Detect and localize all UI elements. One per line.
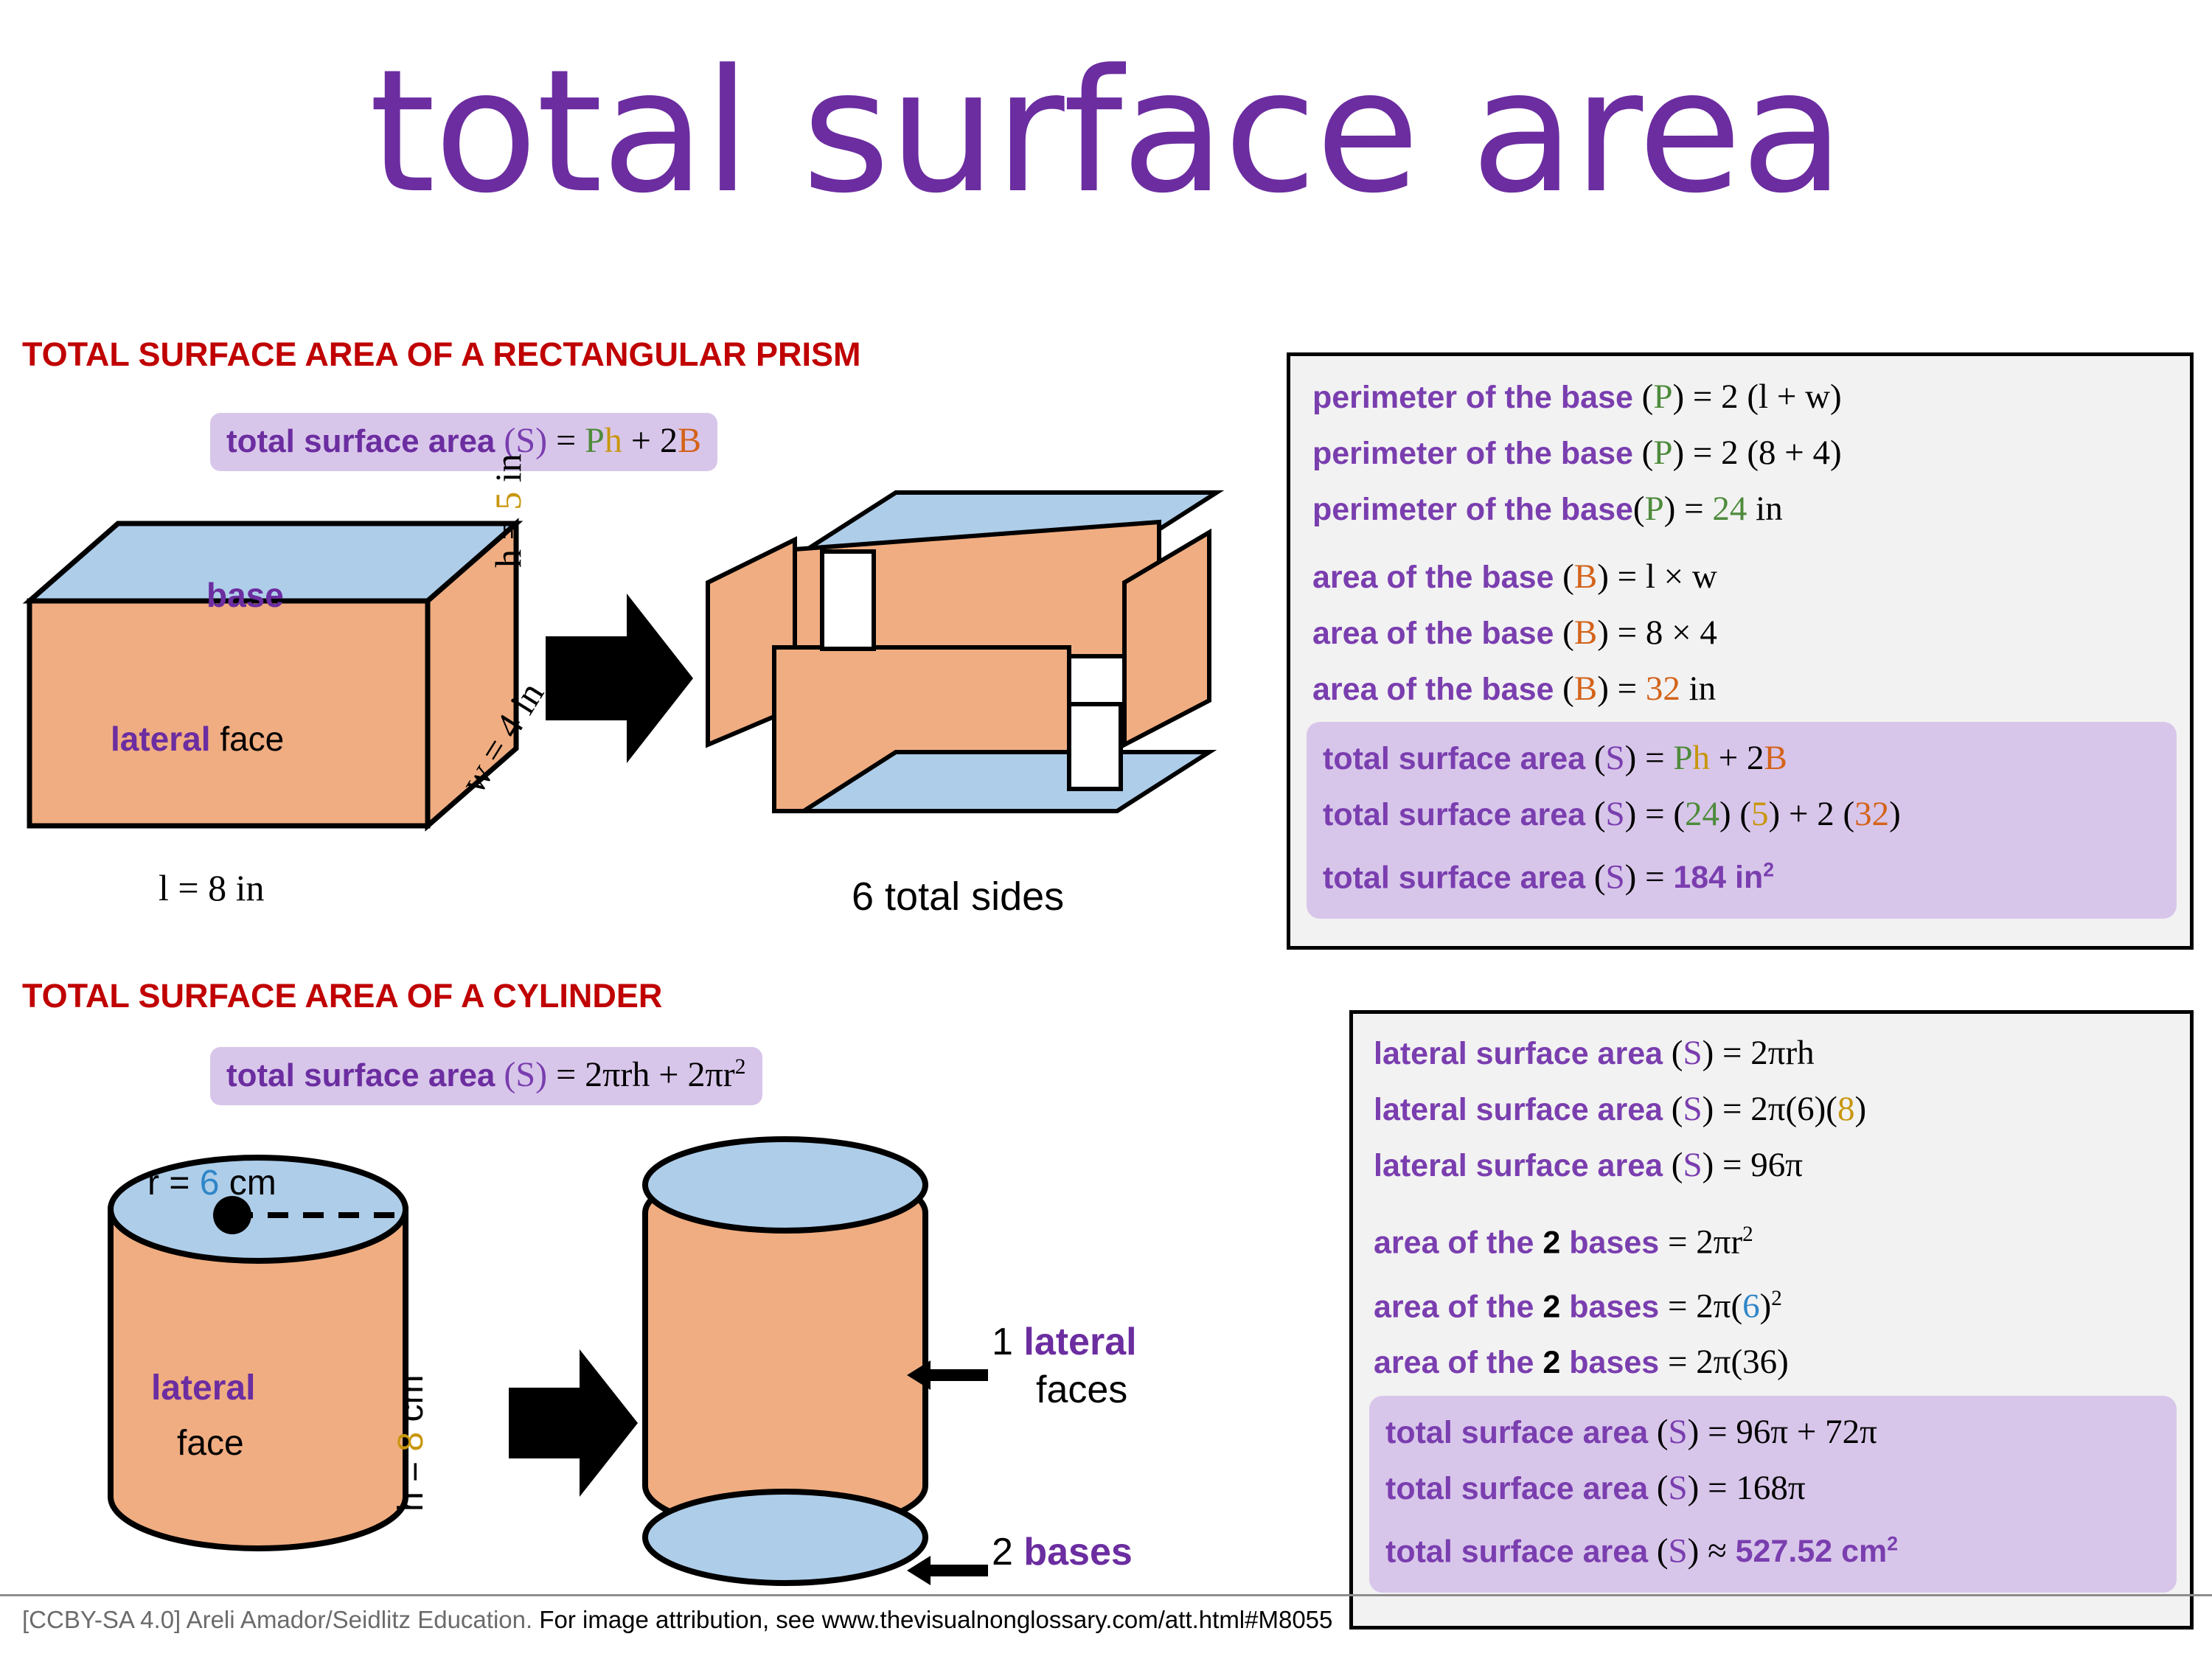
cylinder-height-label: h = 8 cm	[391, 1375, 431, 1512]
equation-label: total surface area	[1385, 1415, 1648, 1450]
substituted-radius: 6	[1742, 1287, 1760, 1325]
equation-row: area of the 2 bases = 2π(36)	[1374, 1335, 1789, 1391]
exploded-gap-top	[822, 552, 874, 649]
exploded-bottom-base	[645, 1492, 925, 1583]
cylinder-lateral-keyword: lateral	[151, 1368, 255, 1408]
height-suffix: in	[487, 453, 529, 491]
prism-lateral-face-label: lateral face	[111, 719, 284, 759]
equation-expression: = 2 (l + w)	[1693, 378, 1842, 416]
lateral-count: 1	[992, 1321, 1023, 1363]
equation-label: area of the base	[1312, 672, 1554, 707]
area-equations: area of the base (B) = l × w area of the…	[1312, 549, 1717, 717]
lateral-equations: lateral surface area (S) = 2πrh lateral …	[1374, 1026, 1866, 1194]
cylinder-faces-word: faces	[1036, 1368, 1127, 1412]
equation-row: total surface area (S) = 184 in2	[1323, 843, 2162, 905]
equation-label: total surface area	[1385, 1534, 1648, 1569]
lateral-keyword: lateral	[1023, 1321, 1136, 1363]
equation-variable: S	[1683, 1034, 1702, 1072]
formula-badge-cylinder: total surface area (S) = 2πrh + 2πr2	[210, 1047, 762, 1105]
section-heading-prism: TOTAL SURFACE AREA OF A RECTANGULAR PRIS…	[22, 335, 861, 374]
equation-variable: P	[1645, 490, 1664, 528]
equation-variable: S	[1683, 1146, 1702, 1184]
equation-label: area of the 2 bases	[1374, 1225, 1659, 1261]
equation-label: total surface area	[1323, 797, 1585, 832]
equation-label: perimeter of the base	[1312, 380, 1633, 415]
equation-row: lateral surface area (S) = 2πrh	[1374, 1026, 1866, 1082]
equation-unit: in	[1689, 669, 1717, 708]
equation-variable: S	[1669, 1413, 1688, 1451]
equation-label: lateral surface area	[1374, 1036, 1663, 1071]
equation-expression: = 96π + 72π	[1708, 1413, 1877, 1451]
substituted-p: 24	[1685, 795, 1719, 833]
equation-expression: = 2π(36)	[1668, 1343, 1789, 1381]
equation-variable: P	[1653, 434, 1672, 472]
height-value: 8	[392, 1432, 431, 1452]
equation-variable: B	[1574, 557, 1597, 596]
radius-value: 6	[200, 1164, 220, 1203]
license-text: [CCBY-SA 4.0] Areli Amador/Seidlitz Educ…	[22, 1606, 532, 1633]
exploded-prism-diagram	[708, 487, 1239, 885]
cylinder-result-box: total surface area (S) = 96π + 72π total…	[1369, 1396, 2177, 1593]
formula-exponent: 2	[735, 1054, 746, 1079]
equation-label: area of the 2 bases	[1374, 1345, 1659, 1380]
exploded-top-base	[645, 1139, 925, 1231]
equation-label: lateral surface area	[1374, 1148, 1663, 1183]
face-word: face	[220, 720, 284, 758]
prism-length-label: l = 8 in	[159, 866, 264, 909]
equation-row: perimeter of the base (P) = 2 (8 + 4)	[1312, 425, 1842, 481]
equation-variable: B	[1574, 669, 1597, 708]
equation-row: total surface area (S) = 96π + 72π	[1385, 1405, 2162, 1461]
formula-variable-s: (S)	[504, 1055, 547, 1094]
cylinder-face-word: face	[177, 1423, 244, 1464]
formula-plus: +	[631, 421, 651, 460]
formula-term-b: B	[678, 421, 701, 460]
equation-label: lateral surface area	[1374, 1092, 1663, 1127]
prism-front-lateral-face	[29, 601, 428, 826]
equation-variable: S	[1669, 1469, 1688, 1507]
equation-expression: = 8 × 4	[1618, 613, 1717, 652]
equation-row: perimeter of the base(P) = 24 in	[1312, 481, 1842, 538]
equation-label: area of the base	[1312, 560, 1554, 595]
equation-variable: S	[1606, 739, 1625, 777]
equation-variable: P	[1653, 378, 1672, 416]
callout-arrow-lateral	[907, 1360, 988, 1390]
height-value: 5	[487, 492, 529, 510]
prism-height-label: h = 5 in	[487, 453, 529, 568]
equation-label: perimeter of the base	[1312, 436, 1633, 471]
substituted-b: 32	[1854, 795, 1889, 833]
substituted-h: 5	[1751, 795, 1769, 833]
lateral-keyword: lateral	[111, 720, 211, 758]
cylinder-diagram	[103, 1158, 413, 1571]
arrow-right-prism	[546, 594, 693, 763]
prism-base-label: base	[206, 575, 284, 615]
exploded-gap-right	[1069, 704, 1121, 789]
equation-row: area of the 2 bases = 2π(6)2	[1374, 1271, 1789, 1335]
equation-unit: in	[1756, 490, 1783, 528]
cylinder-radius-label: r = 6 cm	[147, 1163, 276, 1203]
radius-suffix: cm	[219, 1164, 276, 1203]
radius-prefix: r =	[147, 1164, 200, 1203]
equation-variable: S	[1606, 858, 1625, 896]
formula-label: total surface area	[226, 423, 495, 459]
equation-row: total surface area (S) = Ph + 2B	[1323, 731, 2162, 787]
equation-row: area of the 2 bases = 2πr2	[1374, 1207, 1789, 1271]
perimeter-equations: perimeter of the base (P) = 2 (l + w) pe…	[1312, 369, 1842, 538]
equation-label: total surface area	[1385, 1471, 1648, 1506]
equation-row: perimeter of the base (P) = 2 (l + w)	[1312, 369, 1842, 425]
substituted-height: 8	[1837, 1090, 1855, 1128]
prism-result-box: total surface area (S) = Ph + 2B total s…	[1307, 722, 2177, 919]
equation-row: lateral surface area (S) = 96π	[1374, 1138, 1866, 1194]
footer-attribution: [CCBY-SA 4.0] Areli Amador/Seidlitz Educ…	[22, 1606, 1332, 1634]
formula-equals: =	[556, 1055, 576, 1094]
equation-row: total surface area (S) = 168π	[1385, 1461, 2162, 1517]
infographic-page: total surface area TOTAL SURFACE AREA OF…	[0, 0, 2212, 1659]
formula-term-h: h	[605, 421, 622, 460]
exploded-prism-caption: 6 total sides	[852, 874, 1064, 919]
equation-row: area of the base (B) = l × w	[1312, 549, 1717, 605]
equation-variable: S	[1669, 1531, 1688, 1570]
bases-keyword: bases	[1023, 1531, 1132, 1573]
term-p: P	[1673, 739, 1692, 777]
equation-row: total surface area (S) = (24) (5) + 2 (3…	[1323, 787, 2162, 843]
equation-label: total surface area	[1323, 860, 1585, 895]
formula-equals: =	[556, 421, 576, 460]
equation-expression: = 96π	[1722, 1146, 1803, 1184]
equation-result-value: 24	[1712, 490, 1747, 528]
final-answer: 527.52 cm2	[1736, 1534, 1898, 1569]
equation-row: total surface area (S) ≈ 527.52 cm2	[1385, 1517, 2162, 1579]
bases-count: 2	[992, 1531, 1023, 1573]
formula-label: total surface area	[226, 1057, 495, 1093]
footer-divider	[0, 1594, 2212, 1596]
formula-term-p: P	[585, 421, 605, 460]
equation-label: area of the base	[1312, 616, 1554, 651]
arrow-right-cylinder	[509, 1349, 638, 1497]
prism-calculation-panel: perimeter of the base (P) = 2 (l + w) pe…	[1287, 352, 2194, 950]
equation-variable: S	[1606, 795, 1625, 833]
cylinder-bases-callout: 2 bases	[992, 1530, 1133, 1574]
equation-variable: B	[1574, 613, 1597, 652]
height-prefix: h =	[487, 510, 529, 568]
equation-row: area of the base (B) = 8 × 4	[1312, 605, 1717, 661]
section-heading-cylinder: TOTAL SURFACE AREA OF A CYLINDER	[22, 977, 662, 1015]
callout-arrow-bases	[907, 1556, 988, 1585]
cylinder-lateral-callout: 1 lateral	[992, 1320, 1137, 1364]
equation-label: perimeter of the base	[1312, 492, 1633, 527]
equation-label: total surface area	[1323, 741, 1585, 776]
final-answer: 184 in2	[1673, 860, 1774, 895]
equation-expression: = 2πrh	[1722, 1034, 1815, 1072]
formula-coef-2: 2	[660, 421, 678, 460]
term-b: B	[1764, 739, 1787, 777]
height-prefix: h =	[392, 1452, 431, 1512]
formula-expression: 2πrh + 2πr	[585, 1055, 735, 1094]
equation-expression: = 168π	[1708, 1469, 1806, 1507]
attribution-text: For image attribution, see www.thevisual…	[539, 1606, 1332, 1633]
term-h: h	[1692, 739, 1710, 777]
equation-expression: = 2 (8 + 4)	[1693, 434, 1842, 472]
equation-variable: S	[1683, 1090, 1702, 1128]
equation-row: lateral surface area (S) = 2π(6)(8)	[1374, 1082, 1866, 1138]
equation-row: area of the base (B) = 32 in	[1312, 661, 1717, 717]
cylinder-calculation-panel: lateral surface area (S) = 2πrh lateral …	[1349, 1010, 2194, 1630]
height-suffix: cm	[392, 1375, 431, 1432]
approx-symbol: ≈	[1708, 1531, 1727, 1570]
page-title: total surface area	[0, 44, 2212, 221]
formula-badge-prism: total surface area (S) = Ph + 2B	[210, 413, 717, 471]
equation-result-value: 32	[1646, 669, 1680, 708]
equation-expression: = l × w	[1618, 557, 1717, 596]
equation-label: area of the 2 bases	[1374, 1289, 1659, 1324]
